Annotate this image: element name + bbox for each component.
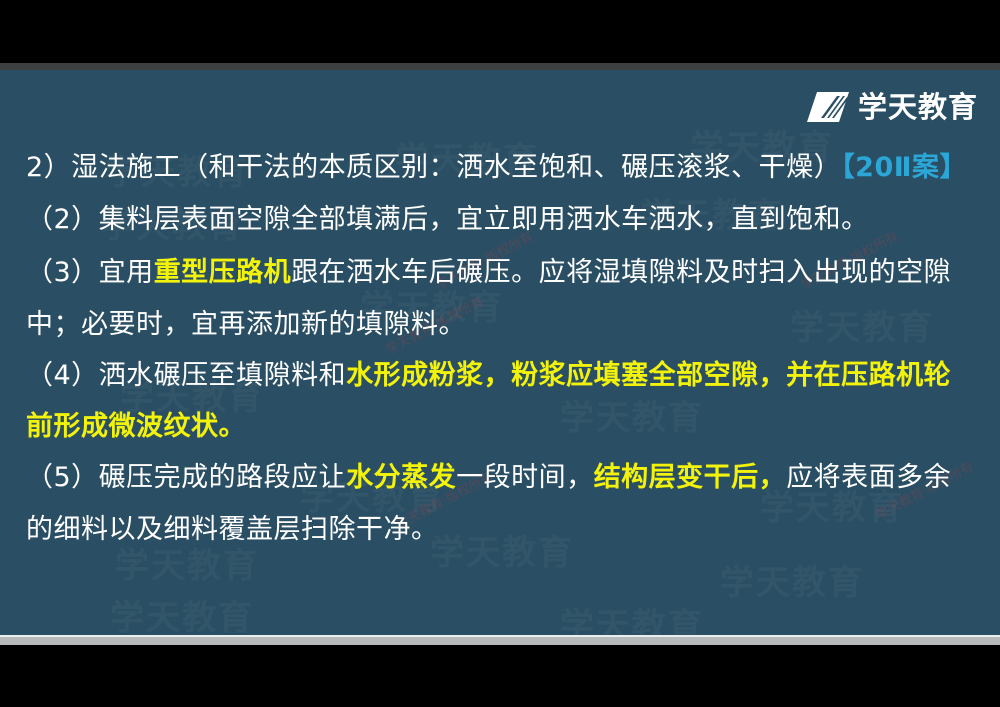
- line-7-part-b: 一段时间，: [456, 462, 594, 493]
- line-3-highlight: 重型压路机: [154, 257, 292, 288]
- brand-logo-text: 学天教育: [858, 93, 978, 122]
- line-7-part-c: 应将表面多余: [786, 462, 951, 493]
- line-2-main: （2）集料层表面空隙全部填满后，宜立即用洒水车洒水，直到饱和。: [26, 204, 869, 235]
- top-separator-strip: [0, 63, 1000, 70]
- bottom-progress-bar[interactable]: [0, 637, 1000, 645]
- text-line-3: （3）宜用重型压路机跟在洒水车后碾压。应将湿填隙料及时扫入出现的空隙: [26, 259, 986, 286]
- line-4-main: 中；必要时，宜再添加新的填隙料。: [26, 309, 466, 340]
- line-5-highlight: 水形成粉浆，粉浆应填塞全部空隙，并在压路机轮: [346, 360, 951, 391]
- text-line-4: 中；必要时，宜再添加新的填隙料。: [26, 311, 986, 338]
- text-line-1: 2）湿法施工（和干法的本质区别：洒水至饱和、碾压滚浆、干燥）【20Ⅱ案】: [26, 154, 986, 181]
- line-6-highlight: 前形成微波纹状。: [26, 411, 246, 442]
- text-line-2: （2）集料层表面空隙全部填满后，宜立即用洒水车洒水，直到饱和。: [26, 206, 986, 233]
- exam-year-tag: 【20Ⅱ案】: [841, 152, 967, 183]
- line-7-highlight-1: 水分蒸发: [346, 462, 456, 493]
- line-5-part-a: （4）洒水碾压至填隙料和: [26, 360, 346, 391]
- line-3-part-a: （3）宜用: [26, 257, 154, 288]
- slide-canvas: 学天教育 学天教育 学天教育 学天教育 学天教育 学天教育 学天教育 学天教育 …: [0, 70, 1000, 635]
- line-7-part-a: （5）碾压完成的路段应让: [26, 462, 346, 493]
- letterbox-top: [0, 0, 1000, 63]
- text-line-7: （5）碾压完成的路段应让水分蒸发一段时间，结构层变干后，应将表面多余: [26, 464, 986, 491]
- screen: 学天教育 学天教育 学天教育 学天教育 学天教育 学天教育 学天教育 学天教育 …: [0, 0, 1000, 707]
- stripes-parallelogram-icon: [807, 92, 849, 122]
- text-line-6: 前形成微波纹状。: [26, 413, 986, 440]
- line-1-main: 2）湿法施工（和干法的本质区别：洒水至饱和、碾压滚浆、干燥）: [26, 152, 841, 183]
- line-3-part-b: 跟在洒水车后碾压。应将湿填隙料及时扫入出现的空隙: [291, 257, 951, 288]
- slide-content: 2）湿法施工（和干法的本质区别：洒水至饱和、碾压滚浆、干燥）【20Ⅱ案】 （2）…: [0, 70, 1000, 635]
- line-8-main: 的细料以及细料覆盖层扫除干净。: [26, 514, 439, 545]
- text-line-5: （4）洒水碾压至填隙料和水形成粉浆，粉浆应填塞全部空隙，并在压路机轮: [26, 362, 986, 389]
- line-7-highlight-2: 结构层变干后，: [594, 462, 787, 493]
- letterbox-bottom: [0, 645, 1000, 707]
- brand-logo: 学天教育: [807, 92, 978, 122]
- text-line-8: 的细料以及细料覆盖层扫除干净。: [26, 516, 986, 543]
